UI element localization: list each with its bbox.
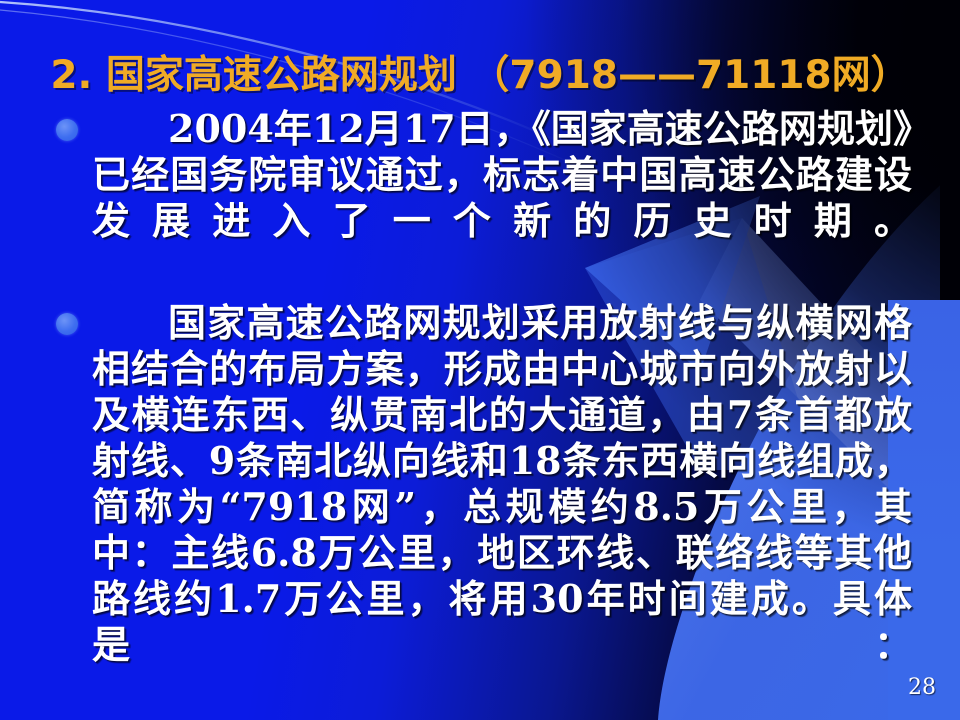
bullet-dot-icon (56, 313, 78, 335)
slide-page-number: 28 (908, 675, 936, 700)
bullet-dot-icon (56, 119, 78, 141)
slide-body-paragraph-2: 国家高速公路网规划采用放射线与纵横网格相结合的布局方案，形成由中心城市向外放射以… (92, 300, 912, 714)
paragraph-text: 2004年12月17日，《国家高速公路网规划》已经国务院审议通过，标志着中国高速… (92, 106, 912, 290)
slide-body-paragraph-1: 2004年12月17日，《国家高速公路网规划》已经国务院审议通过，标志着中国高速… (92, 106, 912, 290)
presentation-slide: 2. 国家高速公路网规划 （7918——71118网） 2004年12月17日，… (0, 0, 960, 720)
slide-title: 2. 国家高速公路网规划 （7918——71118网） (0, 44, 960, 100)
paragraph-text: 国家高速公路网规划采用放射线与纵横网格相结合的布局方案，形成由中心城市向外放射以… (92, 300, 912, 714)
